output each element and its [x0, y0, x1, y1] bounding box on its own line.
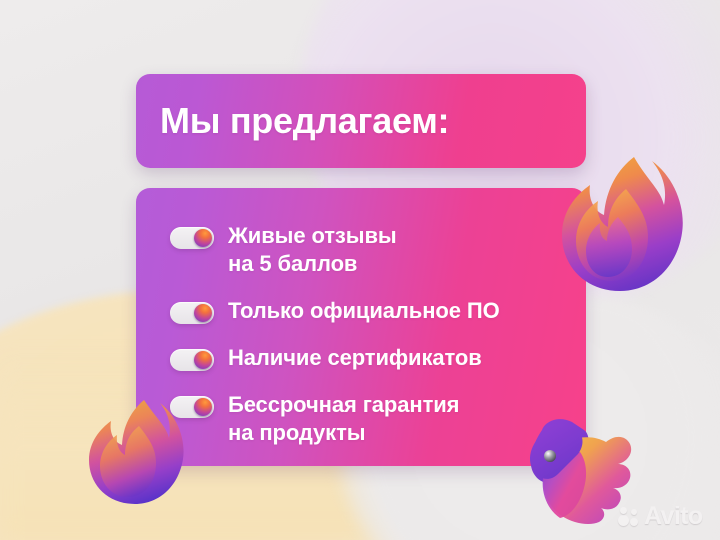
toggle-switch-reviews[interactable]	[170, 227, 214, 249]
toggle-knob-icon	[194, 229, 212, 247]
list-item[interactable]: Бессрочная гарантия на продукты	[170, 391, 572, 447]
list-item[interactable]: Только официальное ПО	[170, 297, 572, 325]
toggle-knob-icon	[194, 304, 212, 322]
list-item[interactable]: Живые отзывы на 5 баллов	[170, 222, 572, 278]
list-item-label: Живые отзывы на 5 баллов	[228, 222, 397, 278]
promo-banner: Мы предлагаем: Живые отзывы на 5 баллов …	[0, 0, 720, 540]
list-item-label: Бессрочная гарантия на продукты	[228, 391, 459, 447]
list-item-label: Наличие сертификатов	[228, 344, 482, 372]
toggle-knob-icon	[194, 351, 212, 369]
list-item[interactable]: Наличие сертификатов	[170, 344, 572, 372]
avito-logo-icon	[618, 506, 640, 528]
header-card: Мы предлагаем:	[136, 74, 586, 168]
toggle-switch-official-software[interactable]	[170, 302, 214, 324]
flame-icon	[556, 155, 688, 293]
avito-wordmark: Avito	[644, 502, 703, 531]
list-item-label: Только официальное ПО	[228, 297, 500, 325]
toggle-switch-certificates[interactable]	[170, 349, 214, 371]
toggle-knob-icon	[194, 398, 212, 416]
avito-watermark: Avito	[618, 502, 703, 531]
offers-card: Живые отзывы на 5 баллов Только официаль…	[136, 188, 586, 466]
page-title: Мы предлагаем:	[160, 100, 449, 142]
flame-icon	[84, 398, 188, 506]
offers-list: Живые отзывы на 5 баллов Только официаль…	[170, 222, 572, 447]
